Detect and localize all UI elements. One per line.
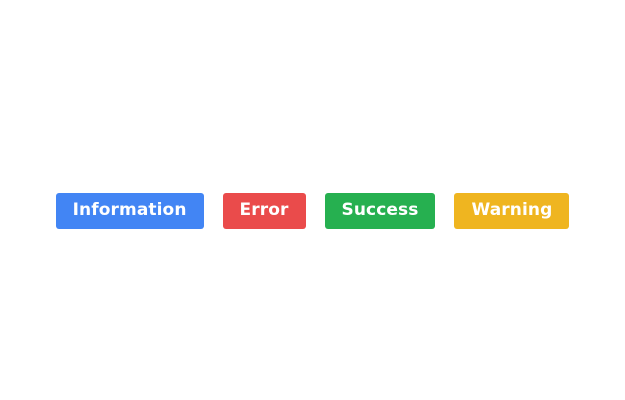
warning-button[interactable]: Warning — [454, 193, 569, 229]
error-button[interactable]: Error — [223, 193, 306, 229]
information-button-label: Information — [73, 202, 187, 219]
page-canvas: Information Error Success Warning — [0, 0, 625, 400]
error-button-label: Error — [240, 202, 289, 219]
success-button-label: Success — [342, 202, 419, 219]
warning-button-label: Warning — [471, 202, 552, 219]
information-button[interactable]: Information — [56, 193, 204, 229]
success-button[interactable]: Success — [325, 193, 436, 229]
alert-button-group: Information Error Success Warning — [0, 193, 625, 229]
